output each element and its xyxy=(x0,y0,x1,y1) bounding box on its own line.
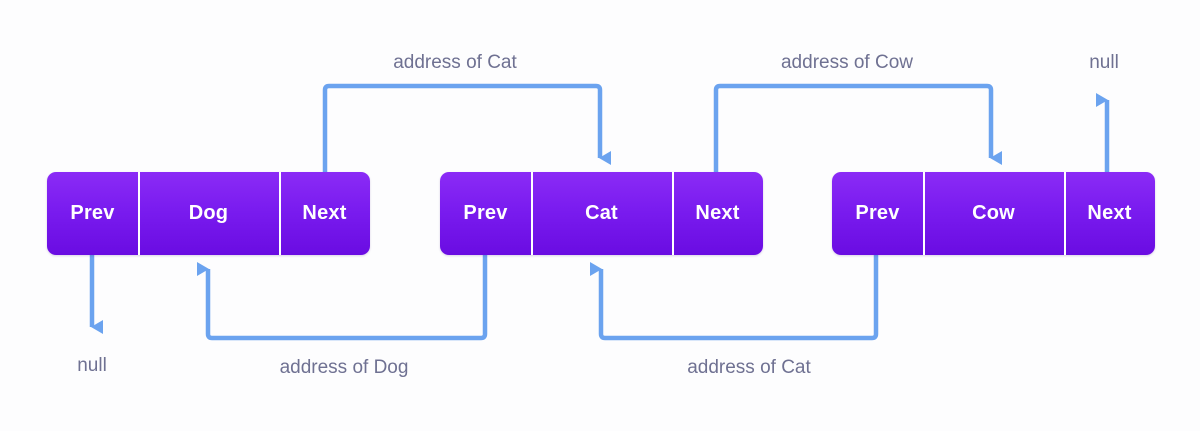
connector-label-address-of-cow: address of Cow xyxy=(781,52,913,74)
list-node-cat[interactable]: Prev Cat Next xyxy=(440,172,763,255)
node-cat-next-label: Next xyxy=(695,202,739,225)
node-dog-next-label: Next xyxy=(302,202,346,225)
connector-cat-prev-to-dog xyxy=(208,255,485,338)
connector-label-null-right: null xyxy=(1089,52,1119,74)
node-cow-data-cell[interactable]: Cow xyxy=(923,172,1064,255)
connector-dog-next-to-cat xyxy=(325,86,600,172)
node-cat-data-cell[interactable]: Cat xyxy=(531,172,672,255)
list-node-cow[interactable]: Prev Cow Next xyxy=(832,172,1155,255)
node-cow-next-label: Next xyxy=(1087,202,1131,225)
node-cow-data-label: Cow xyxy=(972,202,1015,225)
node-cow-prev-label: Prev xyxy=(855,202,899,225)
node-cat-prev-cell[interactable]: Prev xyxy=(440,172,531,255)
node-cow-next-cell[interactable]: Next xyxy=(1064,172,1155,255)
connector-label-address-of-cat-bottom: address of Cat xyxy=(687,357,811,379)
node-dog-prev-cell[interactable]: Prev xyxy=(47,172,138,255)
node-dog-data-label: Dog xyxy=(189,202,228,225)
connector-label-address-of-cat-top: address of Cat xyxy=(393,52,517,74)
node-dog-prev-label: Prev xyxy=(70,202,114,225)
connector-label-address-of-dog: address of Dog xyxy=(280,357,409,379)
node-dog-data-cell[interactable]: Dog xyxy=(138,172,279,255)
connector-cat-next-to-cow xyxy=(716,86,991,172)
connector-label-null-left: null xyxy=(77,355,107,377)
list-node-dog[interactable]: Prev Dog Next xyxy=(47,172,370,255)
diagram-canvas: Prev Dog Next Prev Cat Next Prev Cow Nex… xyxy=(0,0,1200,431)
connector-cow-prev-to-cat xyxy=(601,255,876,338)
node-cat-next-cell[interactable]: Next xyxy=(672,172,763,255)
node-cow-prev-cell[interactable]: Prev xyxy=(832,172,923,255)
node-dog-next-cell[interactable]: Next xyxy=(279,172,370,255)
node-cat-data-label: Cat xyxy=(585,202,618,225)
node-cat-prev-label: Prev xyxy=(463,202,507,225)
